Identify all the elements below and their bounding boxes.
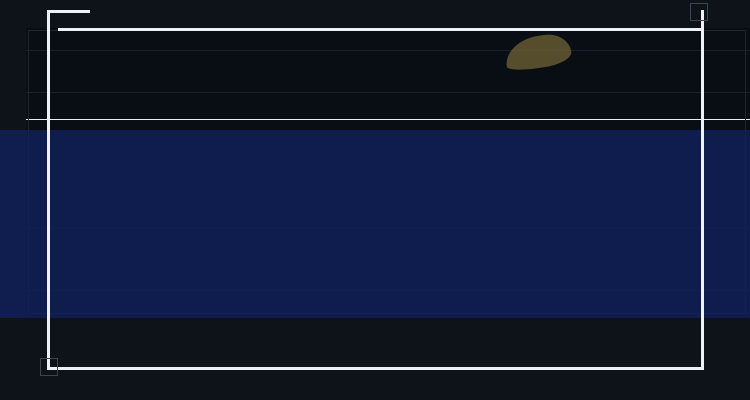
stock-chart-screenshot xyxy=(0,0,750,400)
x-axis-labels xyxy=(0,318,750,342)
chart-plot-area[interactable] xyxy=(26,28,750,318)
corner-bracket-top-right xyxy=(690,3,708,21)
corner-bracket-bottom-left xyxy=(40,358,58,376)
line-series-shanghai-index xyxy=(26,28,750,318)
frame-right xyxy=(701,31,704,370)
frame-left xyxy=(47,10,50,370)
frame-bottom xyxy=(47,367,704,370)
frame-top-stub xyxy=(47,10,90,13)
frame-top xyxy=(58,28,704,31)
